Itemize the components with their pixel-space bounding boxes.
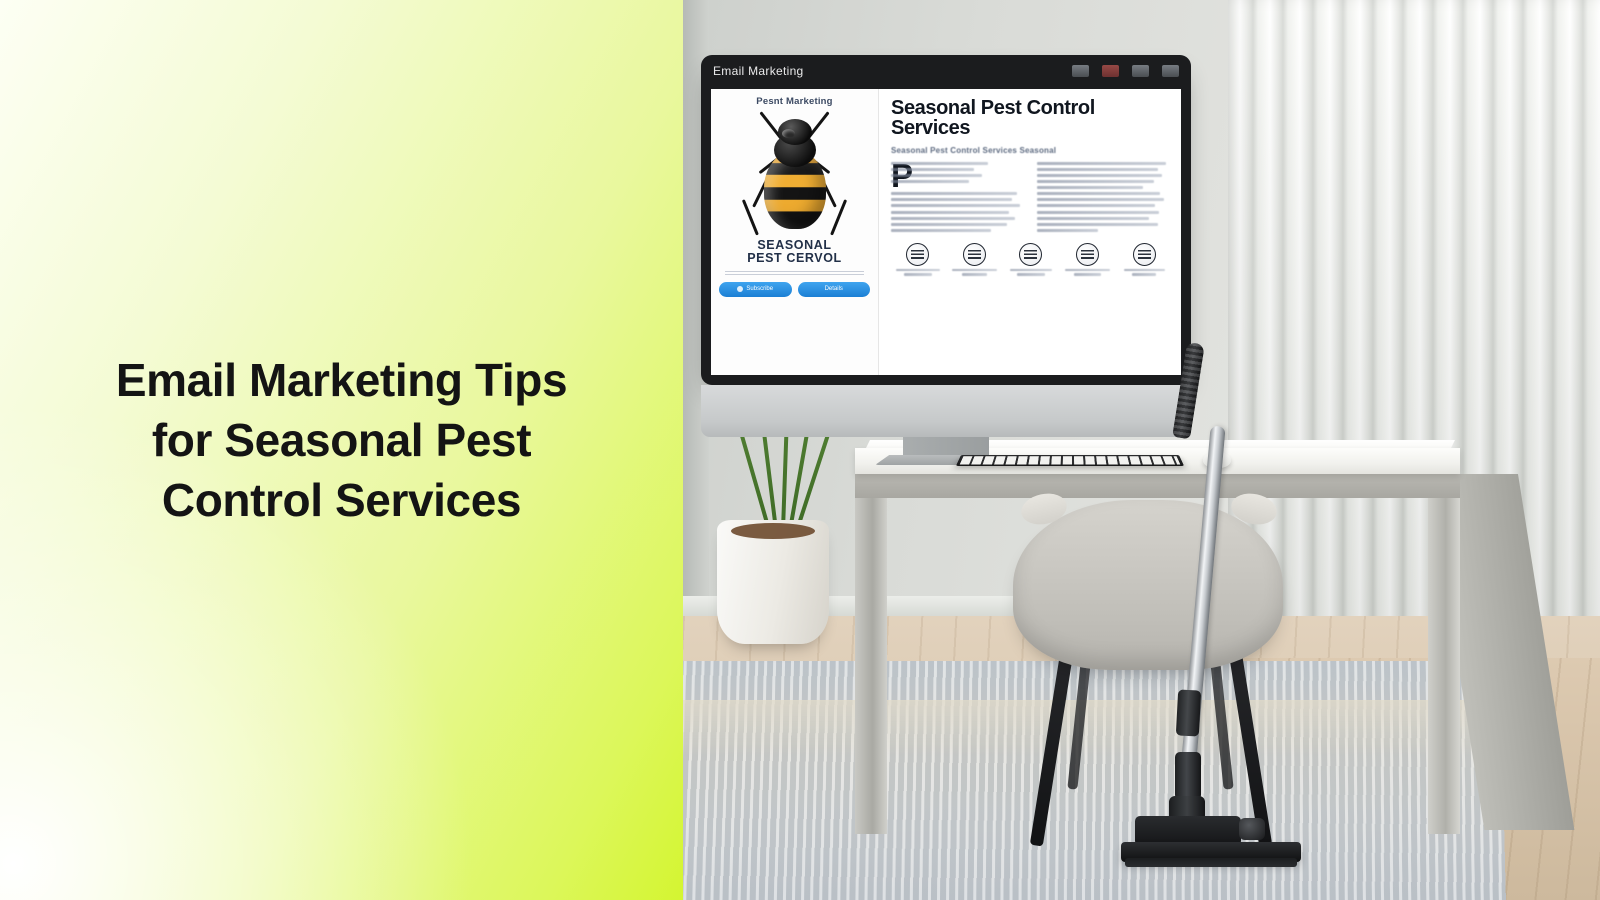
text-line: [891, 223, 1007, 226]
feature-icon-caption: [893, 269, 943, 278]
text-line: [952, 269, 998, 271]
text-line: [891, 211, 1009, 214]
menu-icon[interactable]: [1162, 65, 1179, 77]
article-columns: P: [891, 162, 1171, 235]
text-line: [891, 217, 1015, 220]
text-line: [1037, 180, 1154, 183]
text-line: [1124, 269, 1165, 271]
vacuum-floor-plate-edge: [1125, 858, 1297, 867]
article-pane: Seasonal Pest Control Services Seasonal …: [879, 89, 1181, 375]
vacuum-collar-upper: [1176, 689, 1201, 736]
desk-leg-left: [855, 474, 887, 834]
vacuum-collar-lower: [1175, 752, 1201, 800]
poster-pane[interactable]: Pesnt Marketing: [711, 89, 879, 375]
text-line: [904, 273, 932, 275]
image-icon[interactable]: [1072, 65, 1089, 77]
text-line: [1037, 211, 1159, 214]
leaf-icon: [1076, 243, 1099, 266]
feature-icon-cell[interactable]: [1063, 243, 1113, 278]
fluted-wall-shading: [1228, 0, 1600, 680]
text-line: [1037, 204, 1155, 207]
text-line: [891, 198, 1012, 201]
article-body-2: [1037, 162, 1172, 232]
text-line: [891, 174, 982, 177]
feature-icon-cell[interactable]: [1119, 243, 1169, 278]
poster-title-line1: SEASONAL: [757, 239, 831, 252]
chart-icon[interactable]: [1102, 65, 1119, 77]
text-line: [1037, 162, 1166, 165]
text-line: [891, 204, 1020, 207]
poster-buttons: Subscribe Details: [719, 282, 870, 297]
text-line: [1037, 223, 1158, 226]
text-line: [891, 162, 988, 165]
clock-icon: [1133, 243, 1156, 266]
titlebar-icons: [1072, 65, 1179, 77]
bee-icon: [734, 111, 856, 236]
desk-chair[interactable]: [1013, 500, 1283, 670]
area-rug-highlight: [683, 700, 1503, 756]
monitor[interactable]: Email Marketing Pesnt Marketing: [701, 55, 1191, 385]
page-title: Email Marketing Tips for Seasonal Pest C…: [82, 351, 602, 530]
text-line: [1065, 269, 1110, 271]
text-line: [891, 229, 991, 232]
plant-soil: [731, 523, 815, 539]
monitor-screen: Pesnt Marketing: [711, 89, 1181, 375]
poster-canvas: Email Marketing Tips for Seasonal Pest C…: [0, 0, 1600, 900]
poster-details-label: Details: [825, 286, 843, 292]
text-line: [891, 180, 969, 183]
feature-icon-cell[interactable]: [893, 243, 943, 278]
text-line: [1037, 192, 1161, 195]
text-line: [891, 192, 1017, 195]
desk-apron: [855, 474, 1460, 498]
text-line: [1074, 273, 1101, 275]
text-line: [1037, 229, 1099, 232]
text-line: [962, 273, 987, 275]
house-icon: [1019, 243, 1042, 266]
text-line: [1037, 186, 1143, 189]
cloud-icon[interactable]: [1132, 65, 1149, 77]
feature-icon-cell[interactable]: [950, 243, 1000, 278]
text-line: [1132, 273, 1156, 275]
titlebar-label: Email Marketing: [713, 64, 804, 78]
article-column-1: P: [891, 162, 1026, 235]
article-column-2: [1037, 162, 1172, 235]
text-line: [891, 168, 974, 171]
monitor-titlebar: Email Marketing: [701, 55, 1191, 87]
office-photo: Email Marketing Pesnt Marketing: [683, 0, 1600, 900]
poster-text-rule: [725, 271, 864, 276]
feature-icon-caption: [1063, 269, 1113, 278]
desk-leg-right: [1428, 474, 1460, 834]
text-line: [1017, 273, 1046, 275]
text-line: [1010, 269, 1052, 271]
text-line: [1037, 168, 1158, 171]
left-gradient-panel: Email Marketing Tips for Seasonal Pest C…: [0, 0, 683, 900]
feature-icon-caption: [1006, 269, 1056, 278]
poster-subscribe-button[interactable]: Subscribe: [719, 282, 792, 297]
text-line: [1037, 198, 1165, 201]
area-rug: [683, 661, 1506, 900]
article-feature-icons: [891, 243, 1171, 278]
shield-icon: [906, 243, 929, 266]
article-subheading: Seasonal Pest Control Services Seasonal: [891, 146, 1171, 155]
droplet-icon: [963, 243, 986, 266]
poster-title-line2: PEST CERVOL: [747, 252, 842, 265]
poster-details-button[interactable]: Details: [798, 282, 871, 297]
text-line: [896, 269, 940, 271]
bee-eye: [782, 129, 795, 138]
text-line: [1037, 174, 1162, 177]
keyboard[interactable]: [956, 455, 1184, 466]
article-heading: Seasonal Pest Control Services: [891, 98, 1171, 139]
feature-icon-caption: [950, 269, 1000, 278]
text-line: [1037, 217, 1150, 220]
monitor-chin: [701, 385, 1191, 437]
feature-icon-cell[interactable]: [1006, 243, 1056, 278]
poster-kicker: Pesnt Marketing: [756, 96, 832, 107]
vacuum-knob: [1239, 818, 1265, 840]
poster-subscribe-label: Subscribe: [746, 286, 773, 292]
feature-icon-caption: [1119, 269, 1169, 278]
refresh-icon: [737, 286, 743, 292]
